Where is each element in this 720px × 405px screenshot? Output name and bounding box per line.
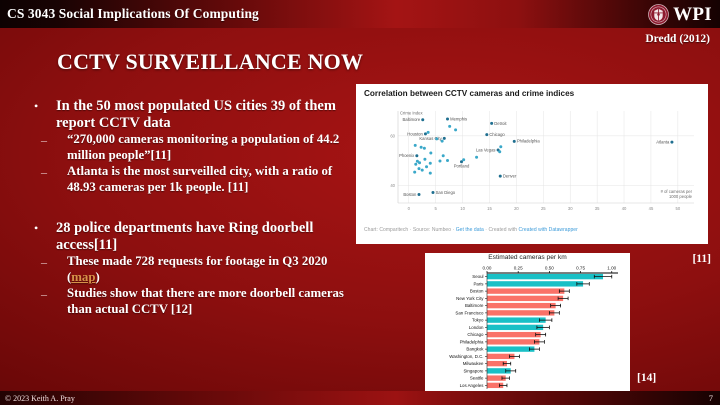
citation-scatter: [11] (692, 253, 711, 265)
page-title: CCTV SURVEILLANCE NOW (57, 49, 363, 75)
bar-chart-card: Estimated cameras per km 0.000.250.500.7… (425, 253, 630, 395)
sub-bullet-item: – Atlanta is the most surveilled city, w… (30, 164, 360, 195)
svg-text:London: London (469, 325, 484, 330)
map-link[interactable]: map (71, 270, 95, 284)
svg-text:Philadelphia: Philadelphia (517, 139, 540, 144)
svg-text:45: 45 (649, 206, 654, 211)
bullet-marker: • (30, 98, 56, 131)
sub-bullet-text: “270,000 cameras monitoring a population… (67, 132, 360, 163)
svg-text:25: 25 (541, 206, 546, 211)
sub-bullet-marker: – (30, 286, 67, 317)
svg-text:Paris: Paris (473, 281, 484, 286)
svg-text:15: 15 (487, 206, 492, 211)
copyright-text: © 2023 Keith A. Pray (0, 394, 75, 403)
svg-text:35: 35 (595, 206, 600, 211)
svg-text:Boston: Boston (403, 192, 417, 197)
credit-created-with: Created with (488, 227, 518, 233)
svg-text:Chicago: Chicago (467, 332, 484, 337)
svg-text:San Diego: San Diego (436, 190, 456, 195)
svg-text:Los Angeles: Los Angeles (460, 383, 485, 388)
svg-text:Singapore: Singapore (463, 368, 484, 373)
svg-text:Seoul: Seoul (472, 274, 483, 279)
sub-bullet-marker: – (30, 132, 67, 163)
svg-text:Crime Index: Crime Index (400, 111, 423, 116)
bullet-item: • In the 50 most populated US cities 39 … (30, 98, 360, 131)
svg-text:10: 10 (460, 206, 465, 211)
svg-text:Baltimore: Baltimore (465, 303, 484, 308)
svg-text:0.75: 0.75 (576, 266, 585, 271)
scatter-chart-card: Correlation between CCTV cameras and cri… (356, 84, 708, 244)
citation-bars: [14] (637, 372, 656, 384)
sub-bullet-text: These made 728 requests for footage in Q… (67, 254, 360, 285)
svg-text:Baltimore: Baltimore (402, 117, 420, 122)
wpi-wordmark: WPI (673, 5, 712, 24)
svg-text:Seattle: Seattle (470, 376, 484, 381)
sub-bullet-text: Studies show that there are more doorbel… (67, 286, 360, 317)
slide-footer: © 2023 Keith A. Pray 7 (0, 391, 720, 405)
svg-text:Washington, D.C.: Washington, D.C. (449, 354, 483, 359)
svg-text:Kansas City: Kansas City (419, 136, 442, 141)
page-number: 7 (709, 393, 720, 403)
svg-text:30: 30 (568, 206, 573, 211)
svg-text:40: 40 (390, 183, 395, 188)
svg-text:Portland: Portland (454, 164, 470, 169)
slide: CS 3043 Social Implications Of Computing… (0, 0, 720, 405)
svg-text:New York City: New York City (456, 296, 484, 301)
bar-plot: 0.000.250.500.751.00SeoulParisBostonNew … (425, 261, 630, 393)
datawrapper-link[interactable]: Created with Datawrapper (519, 227, 578, 233)
bullet-item: • 28 police departments have Ring doorbe… (30, 220, 360, 253)
svg-text:5: 5 (435, 206, 438, 211)
sub-bullet-marker: – (30, 254, 67, 285)
svg-text:Detroit: Detroit (494, 121, 507, 126)
svg-text:Bangkok: Bangkok (466, 347, 484, 352)
sub-bullet-text-before: These made 728 requests for footage in Q… (67, 254, 327, 284)
svg-text:1000 people: 1000 people (669, 194, 693, 199)
bullet-marker: • (30, 220, 56, 253)
svg-text:40: 40 (622, 206, 627, 211)
svg-text:20: 20 (514, 206, 519, 211)
bar-chart-title: Estimated cameras per km (425, 254, 630, 261)
sub-bullet-item: – “270,000 cameras monitoring a populati… (30, 132, 360, 163)
scatter-chart-credit: Chart: Comparitech · Source: Numbeo · Ge… (364, 227, 578, 233)
svg-text:50: 50 (676, 206, 681, 211)
sub-bullet-text: Atlanta is the most surveilled city, wit… (67, 164, 360, 195)
svg-text:60: 60 (390, 133, 395, 138)
svg-text:San Francisco: San Francisco (455, 310, 484, 315)
credit-source: Source: Numbeo (413, 227, 451, 233)
wpi-logo: WPI (648, 2, 712, 26)
svg-text:0.50: 0.50 (545, 266, 554, 271)
sub-bullet-item: – Studies show that there are more doorb… (30, 286, 360, 317)
bullet-text: In the 50 most populated US cities 39 of… (56, 98, 360, 131)
sub-bullet-item: – These made 728 requests for footage in… (30, 254, 360, 285)
bullet-list: • In the 50 most populated US cities 39 … (30, 98, 360, 317)
sub-bullet-text-after: ) (95, 270, 99, 284)
svg-text:Atlanta: Atlanta (656, 139, 670, 144)
svg-text:Chicago: Chicago (489, 132, 505, 137)
wpi-seal-icon (648, 4, 669, 25)
svg-text:0.00: 0.00 (483, 266, 492, 271)
slide-header: CS 3043 Social Implications Of Computing… (0, 0, 720, 28)
svg-text:0.25: 0.25 (514, 266, 523, 271)
bullet-text: 28 police departments have Ring doorbell… (56, 220, 360, 253)
get-the-data-link[interactable]: Get the data (456, 227, 484, 233)
svg-text:1.00: 1.00 (607, 266, 616, 271)
course-title: CS 3043 Social Implications Of Computing (0, 6, 259, 22)
svg-text:Milwaukee: Milwaukee (463, 361, 484, 366)
svg-text:Memphis: Memphis (450, 116, 467, 121)
scatter-plot: 051015202530354045504060Crime Index# of … (382, 103, 698, 217)
svg-text:0: 0 (408, 206, 411, 211)
sub-bullet-marker: – (30, 164, 67, 195)
svg-text:Philadelphia: Philadelphia (460, 339, 484, 344)
svg-text:Boston: Boston (470, 289, 484, 294)
svg-text:Phoenix: Phoenix (399, 153, 415, 158)
scatter-chart-title: Correlation between CCTV cameras and cri… (364, 89, 574, 98)
svg-text:Denver: Denver (503, 174, 517, 179)
svg-text:Tokyo: Tokyo (472, 318, 484, 323)
credit-chart: Chart: Comparitech (364, 227, 408, 233)
citation-top: Dredd (2012) (645, 33, 710, 45)
svg-text:Las Vegas: Las Vegas (476, 147, 496, 152)
